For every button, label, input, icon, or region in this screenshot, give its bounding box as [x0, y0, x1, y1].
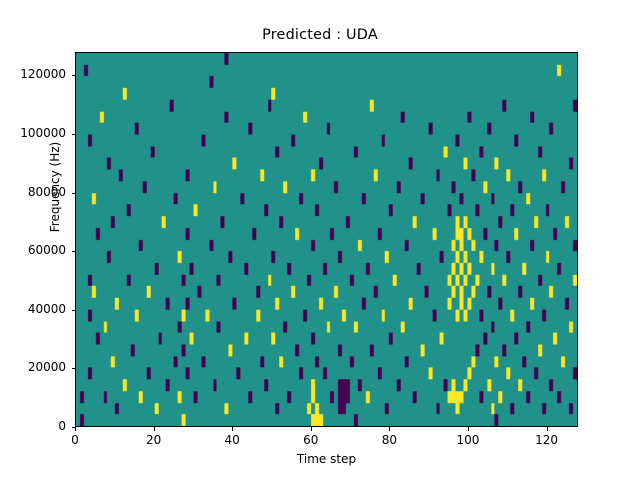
- x-tick-label: 120: [517, 433, 577, 447]
- x-tick-mark: [389, 427, 390, 431]
- x-tick-mark: [75, 427, 76, 431]
- y-tick-mark: [72, 368, 76, 369]
- y-tick-mark: [72, 310, 76, 311]
- x-tick-label: 20: [124, 433, 184, 447]
- x-tick-label: 80: [359, 433, 419, 447]
- x-tick-mark: [311, 427, 312, 431]
- x-tick-mark: [154, 427, 155, 431]
- x-tick-mark: [232, 427, 233, 431]
- y-tick-label: 0: [0, 419, 66, 433]
- x-tick-label: 40: [202, 433, 262, 447]
- x-axis-label: Time step: [75, 452, 578, 466]
- y-axis-label: Frequency (Hz): [48, 37, 62, 337]
- x-tick-label: 0: [45, 433, 105, 447]
- y-tick-mark: [72, 251, 76, 252]
- y-tick-mark: [72, 193, 76, 194]
- heatmap-axes: [75, 52, 578, 427]
- x-tick-mark: [547, 427, 548, 431]
- x-tick-mark: [468, 427, 469, 431]
- y-tick-mark: [72, 427, 76, 428]
- y-tick-label: 20000: [0, 360, 66, 374]
- matplotlib-figure: Predicted : UDA 020406080100120 02000040…: [0, 0, 640, 480]
- x-tick-label: 100: [438, 433, 498, 447]
- y-tick-mark: [72, 75, 76, 76]
- heatmap-image: [76, 53, 577, 426]
- y-tick-mark: [72, 134, 76, 135]
- chart-title: Predicted : UDA: [0, 27, 640, 43]
- x-tick-label: 60: [281, 433, 341, 447]
